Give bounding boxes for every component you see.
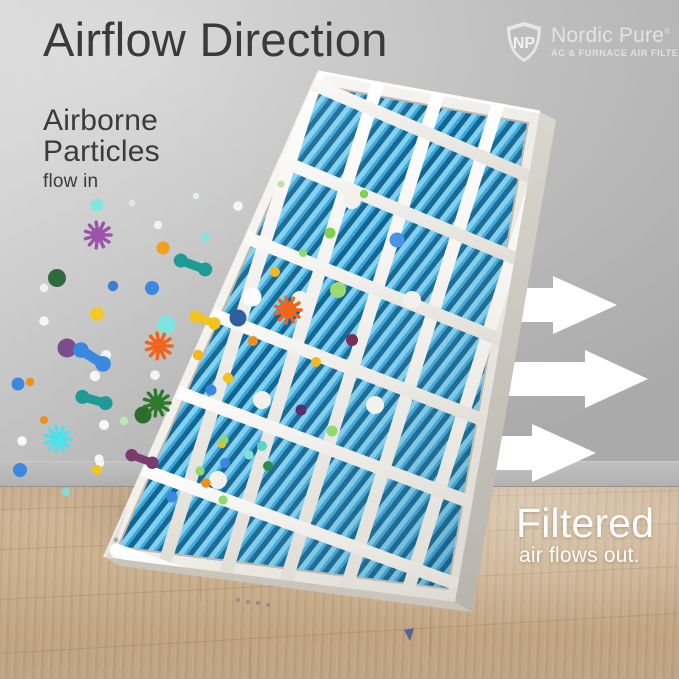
svg-text:NP: NP (513, 35, 536, 52)
airborne-particles-label: Airborne Particles flow in (43, 105, 160, 195)
particle-dot-on-filter (195, 466, 204, 475)
particle-dot (48, 269, 66, 287)
particle-dot (243, 288, 262, 307)
particle-dot-on-filter (257, 441, 267, 451)
particle-dot-on-filter (201, 478, 211, 488)
brand-name: Nordic Pure® (551, 25, 679, 46)
particle-dot (26, 378, 34, 386)
particle-dot-on-filter (311, 357, 321, 367)
particle-bacteria (124, 447, 161, 471)
particle-dot (193, 193, 199, 199)
brand-name-text: Nordic Pure (551, 24, 664, 47)
particle-dot (135, 407, 152, 424)
particle-dot (62, 488, 70, 496)
airborne-particles-layer (0, 0, 679, 679)
particle-dot (92, 465, 102, 475)
registered-mark: ® (664, 27, 670, 36)
particle-virus (146, 333, 172, 359)
particle-dot-on-filter (244, 450, 253, 459)
particle-dot-on-filter (219, 435, 228, 444)
particle-dot-on-filter (360, 190, 368, 198)
airborne-label-line3: flow in (43, 169, 160, 195)
particle-dot-on-filter (325, 228, 336, 239)
particle-bacteria (74, 388, 114, 411)
particle-dot-on-filter (299, 249, 307, 257)
particle-dot (193, 350, 203, 360)
particle-dot (17, 436, 27, 446)
particle-dot (154, 221, 162, 229)
particle-dot (230, 310, 247, 327)
page-title: Airflow Direction (43, 12, 388, 67)
particle-dot (201, 233, 210, 242)
brand-tagline: AC & FURNACE AIR FILTERS (551, 49, 679, 58)
particle-dot (108, 281, 118, 291)
particle-dot (39, 316, 49, 326)
particle-dot-on-filter (390, 233, 405, 248)
particle-dot (233, 201, 243, 211)
particle-dot (223, 373, 233, 383)
particle-dot (90, 307, 104, 321)
particle-dot (12, 378, 25, 391)
particle-bacteria (188, 309, 223, 332)
particle-dot (277, 180, 284, 187)
particle-dot (150, 370, 160, 380)
infographic-scene: Airflow Direction Airborne Particles flo… (0, 0, 679, 679)
particle-dot (91, 199, 104, 212)
particle-dot-on-filter (167, 492, 178, 503)
particle-dot-on-filter (220, 458, 230, 468)
particle-dot-on-filter (330, 282, 346, 298)
particle-virus (144, 390, 170, 416)
particle-virus (275, 297, 301, 323)
airborne-label-line2: Particles (43, 136, 160, 167)
particle-dot (145, 281, 159, 295)
airborne-label-line1: Airborne (43, 105, 160, 136)
particle-dot (129, 200, 136, 207)
particle-dot (120, 417, 128, 425)
filtered-sublabel: air flows out. (519, 544, 640, 568)
particle-dot-on-filter (296, 405, 307, 416)
particle-dot-on-filter (263, 461, 273, 471)
shield-icon: NP (505, 21, 543, 63)
particle-dot (90, 371, 100, 381)
particle-virus (45, 426, 71, 452)
brand-logo: NP Nordic Pure® AC & FURNACE AIR FILTERS (505, 21, 679, 63)
particle-dot-on-filter (248, 336, 258, 346)
particle-dot (157, 242, 170, 255)
particle-dot (157, 316, 176, 335)
particle-dot-on-filter (206, 385, 217, 396)
particle-bacteria (172, 252, 214, 279)
particle-dot-on-filter (270, 267, 280, 277)
particle-dot-on-filter (346, 334, 358, 346)
filtered-label: Filtered (516, 500, 654, 547)
particle-dot (99, 420, 109, 430)
particle-virus (85, 222, 111, 248)
particle-dot-on-filter (327, 426, 338, 437)
particle-dot-on-filter (218, 495, 227, 504)
particle-dot (13, 463, 27, 477)
particle-dot (40, 284, 48, 292)
particle-dot (40, 416, 48, 424)
brand-logo-text: Nordic Pure® AC & FURNACE AIR FILTERS (551, 25, 679, 58)
